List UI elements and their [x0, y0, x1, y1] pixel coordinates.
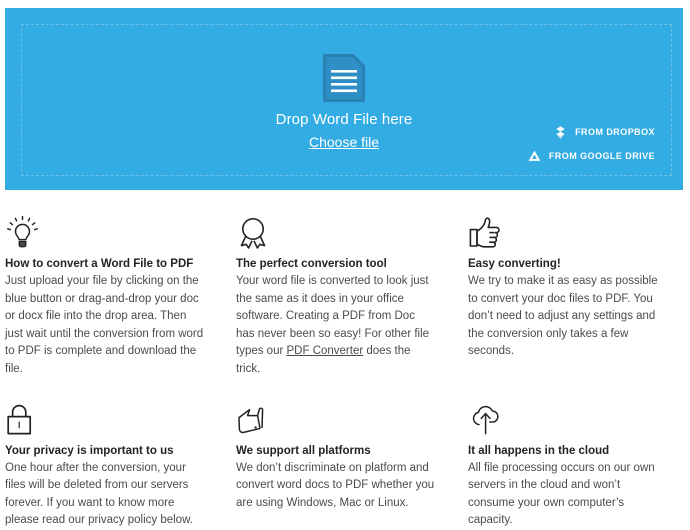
feature-title: It all happens in the cloud: [468, 443, 666, 459]
dropbox-icon: [553, 125, 568, 140]
feature-title: Your privacy is important to us: [5, 443, 206, 459]
feature-perfect-conversion-tool: The perfect conversion tool Your word fi…: [230, 215, 460, 379]
google-drive-icon: [527, 149, 542, 164]
award-ribbon-icon: [236, 215, 436, 255]
thumbs-up-icon: [468, 215, 666, 255]
from-google-drive-label: FROM GOOGLE DRIVE: [549, 151, 655, 161]
cloud-upload-icon: [468, 402, 666, 442]
feature-body: We try to make it as easy as possible to…: [468, 273, 666, 361]
feature-title: Easy converting!: [468, 256, 666, 272]
pdf-converter-link[interactable]: PDF Converter: [287, 345, 364, 357]
feature-privacy: Your privacy is important to us One hour…: [0, 402, 230, 530]
document-icon: [323, 54, 365, 102]
feature-row: Your privacy is important to us One hour…: [0, 402, 690, 530]
feature-easy-converting: Easy converting! We try to make it as ea…: [460, 215, 690, 379]
feature-grid: How to convert a Word File to PDF Just u…: [0, 215, 690, 530]
feature-how-to-convert: How to convert a Word File to PDF Just u…: [0, 215, 230, 379]
cloud-source-buttons: FROM DROPBOX FROM GOOGLE DRIVE: [515, 120, 655, 168]
feature-body: Just upload your file by clicking on the…: [5, 273, 206, 379]
feature-title: The perfect conversion tool: [236, 256, 436, 272]
file-dropzone[interactable]: Drop Word File here Choose file FROM DRO…: [5, 8, 683, 190]
feature-body: Your word file is converted to look just…: [236, 273, 436, 379]
feature-all-platforms: We support all platforms We don’t discri…: [230, 402, 460, 530]
lightbulb-icon: [5, 215, 206, 255]
padlock-icon: [5, 402, 206, 442]
swiss-army-knife-icon: [236, 402, 436, 442]
from-dropbox-button[interactable]: FROM DROPBOX: [515, 120, 655, 144]
from-google-drive-button[interactable]: FROM GOOGLE DRIVE: [515, 144, 655, 168]
feature-cloud: It all happens in the cloud All file pro…: [460, 402, 690, 530]
choose-file-button[interactable]: Choose file: [309, 134, 379, 151]
feature-title: We support all platforms: [236, 443, 436, 459]
from-dropbox-label: FROM DROPBOX: [575, 127, 655, 137]
feature-title: How to convert a Word File to PDF: [5, 256, 206, 272]
feature-body: We don’t discriminate on platform and co…: [236, 460, 436, 513]
feature-row: How to convert a Word File to PDF Just u…: [0, 215, 690, 379]
